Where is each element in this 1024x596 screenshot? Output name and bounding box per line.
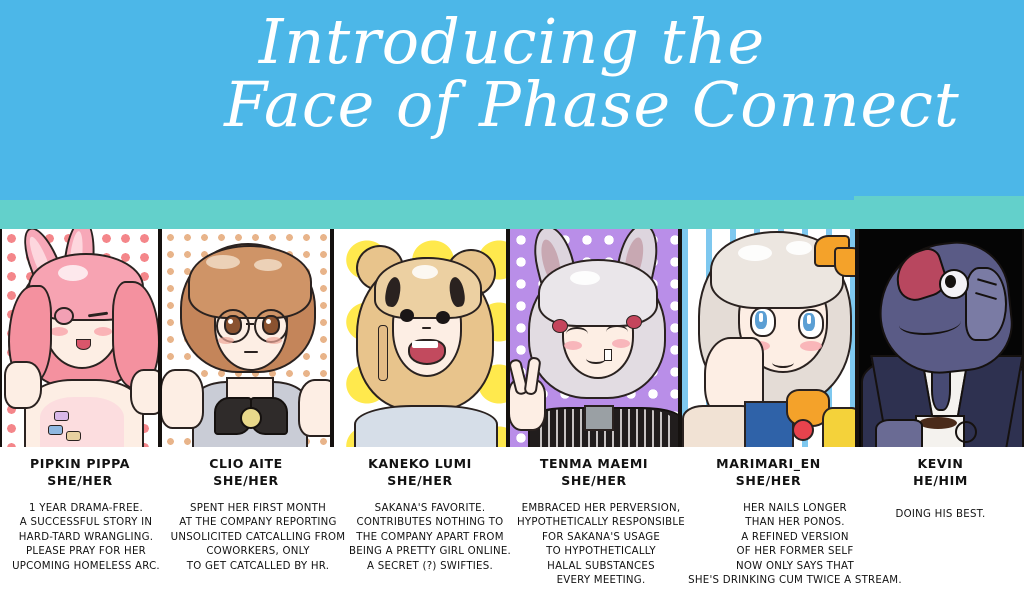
title-line-1: Introducing the — [0, 10, 1024, 73]
character-name: MARIMARI_EN — [716, 456, 821, 473]
character-pronouns: SHE/HER — [47, 473, 112, 490]
character-art-marimari-en — [682, 229, 855, 447]
panel-kevin — [857, 229, 1024, 447]
character-description: SAKANA'S FAVORITE. CONTRIBUTES NOTHING T… — [332, 502, 528, 574]
character-pronouns: SHE/HER — [387, 473, 452, 490]
caption-clio-aite: CLIO AITE SHE/HER SPENT HER FIRST MONTH … — [160, 447, 332, 596]
comic-infographic: Introducing the Face of Phase Connect — [0, 0, 1024, 596]
character-art-clio-aite — [162, 229, 330, 447]
character-description: 1 YEAR DRAMA-FREE. A SUCCESSFUL STORY IN… — [0, 502, 172, 574]
caption-tenma-maemi: TENMA MAEMI SHE/HER EMBRACED HER PERVERS… — [508, 447, 680, 596]
character-panel-strip — [0, 229, 1024, 447]
header-banner: Introducing the Face of Phase Connect — [0, 0, 1024, 200]
caption-kaneko-lumi: KANEKO LUMI SHE/HER SAKANA'S FAVORITE. C… — [332, 447, 508, 596]
character-description: SPENT HER FIRST MONTH AT THE COMPANY REP… — [160, 502, 356, 574]
character-pronouns: HE/HIM — [913, 473, 968, 490]
character-pronouns: SHE/HER — [736, 473, 801, 490]
caption-marimari-en: MARIMARI_EN SHE/HER HER NAILS LONGER THA… — [680, 447, 857, 596]
character-description: EMBRACED HER PERVERSION, HYPOTHETICALLY … — [508, 502, 694, 589]
character-pronouns: SHE/HER — [561, 473, 626, 490]
caption-row: PIPKIN PIPPA SHE/HER 1 YEAR DRAMA-FREE. … — [0, 447, 1024, 596]
panel-clio-aite — [160, 229, 332, 447]
character-pronouns: SHE/HER — [213, 473, 278, 490]
character-art-kevin — [859, 229, 1022, 447]
panel-tenma-maemi — [508, 229, 680, 447]
character-name: KEVIN — [917, 456, 963, 473]
caption-kevin: KEVIN HE/HIM DOING HIS BEST. — [857, 447, 1024, 596]
character-art-pipkin-pippa — [2, 229, 158, 447]
page-title: Introducing the Face of Phase Connect — [0, 10, 1024, 136]
character-description: DOING HIS BEST. — [866, 508, 1016, 522]
panel-marimari-en — [680, 229, 857, 447]
character-name: CLIO AITE — [209, 456, 283, 473]
character-art-tenma-maemi — [510, 229, 678, 447]
panel-kaneko-lumi — [332, 229, 508, 447]
character-name: PIPKIN PIPPA — [30, 456, 130, 473]
panel-pipkin-pippa — [0, 229, 160, 447]
character-art-kaneko-lumi — [334, 229, 506, 447]
title-line-2: Face of Phase Connect — [0, 73, 1024, 136]
character-name: KANEKO LUMI — [368, 456, 472, 473]
character-name: TENMA MAEMI — [540, 456, 648, 473]
caption-pipkin-pippa: PIPKIN PIPPA SHE/HER 1 YEAR DRAMA-FREE. … — [0, 447, 160, 596]
teal-divider-band — [0, 200, 1024, 229]
